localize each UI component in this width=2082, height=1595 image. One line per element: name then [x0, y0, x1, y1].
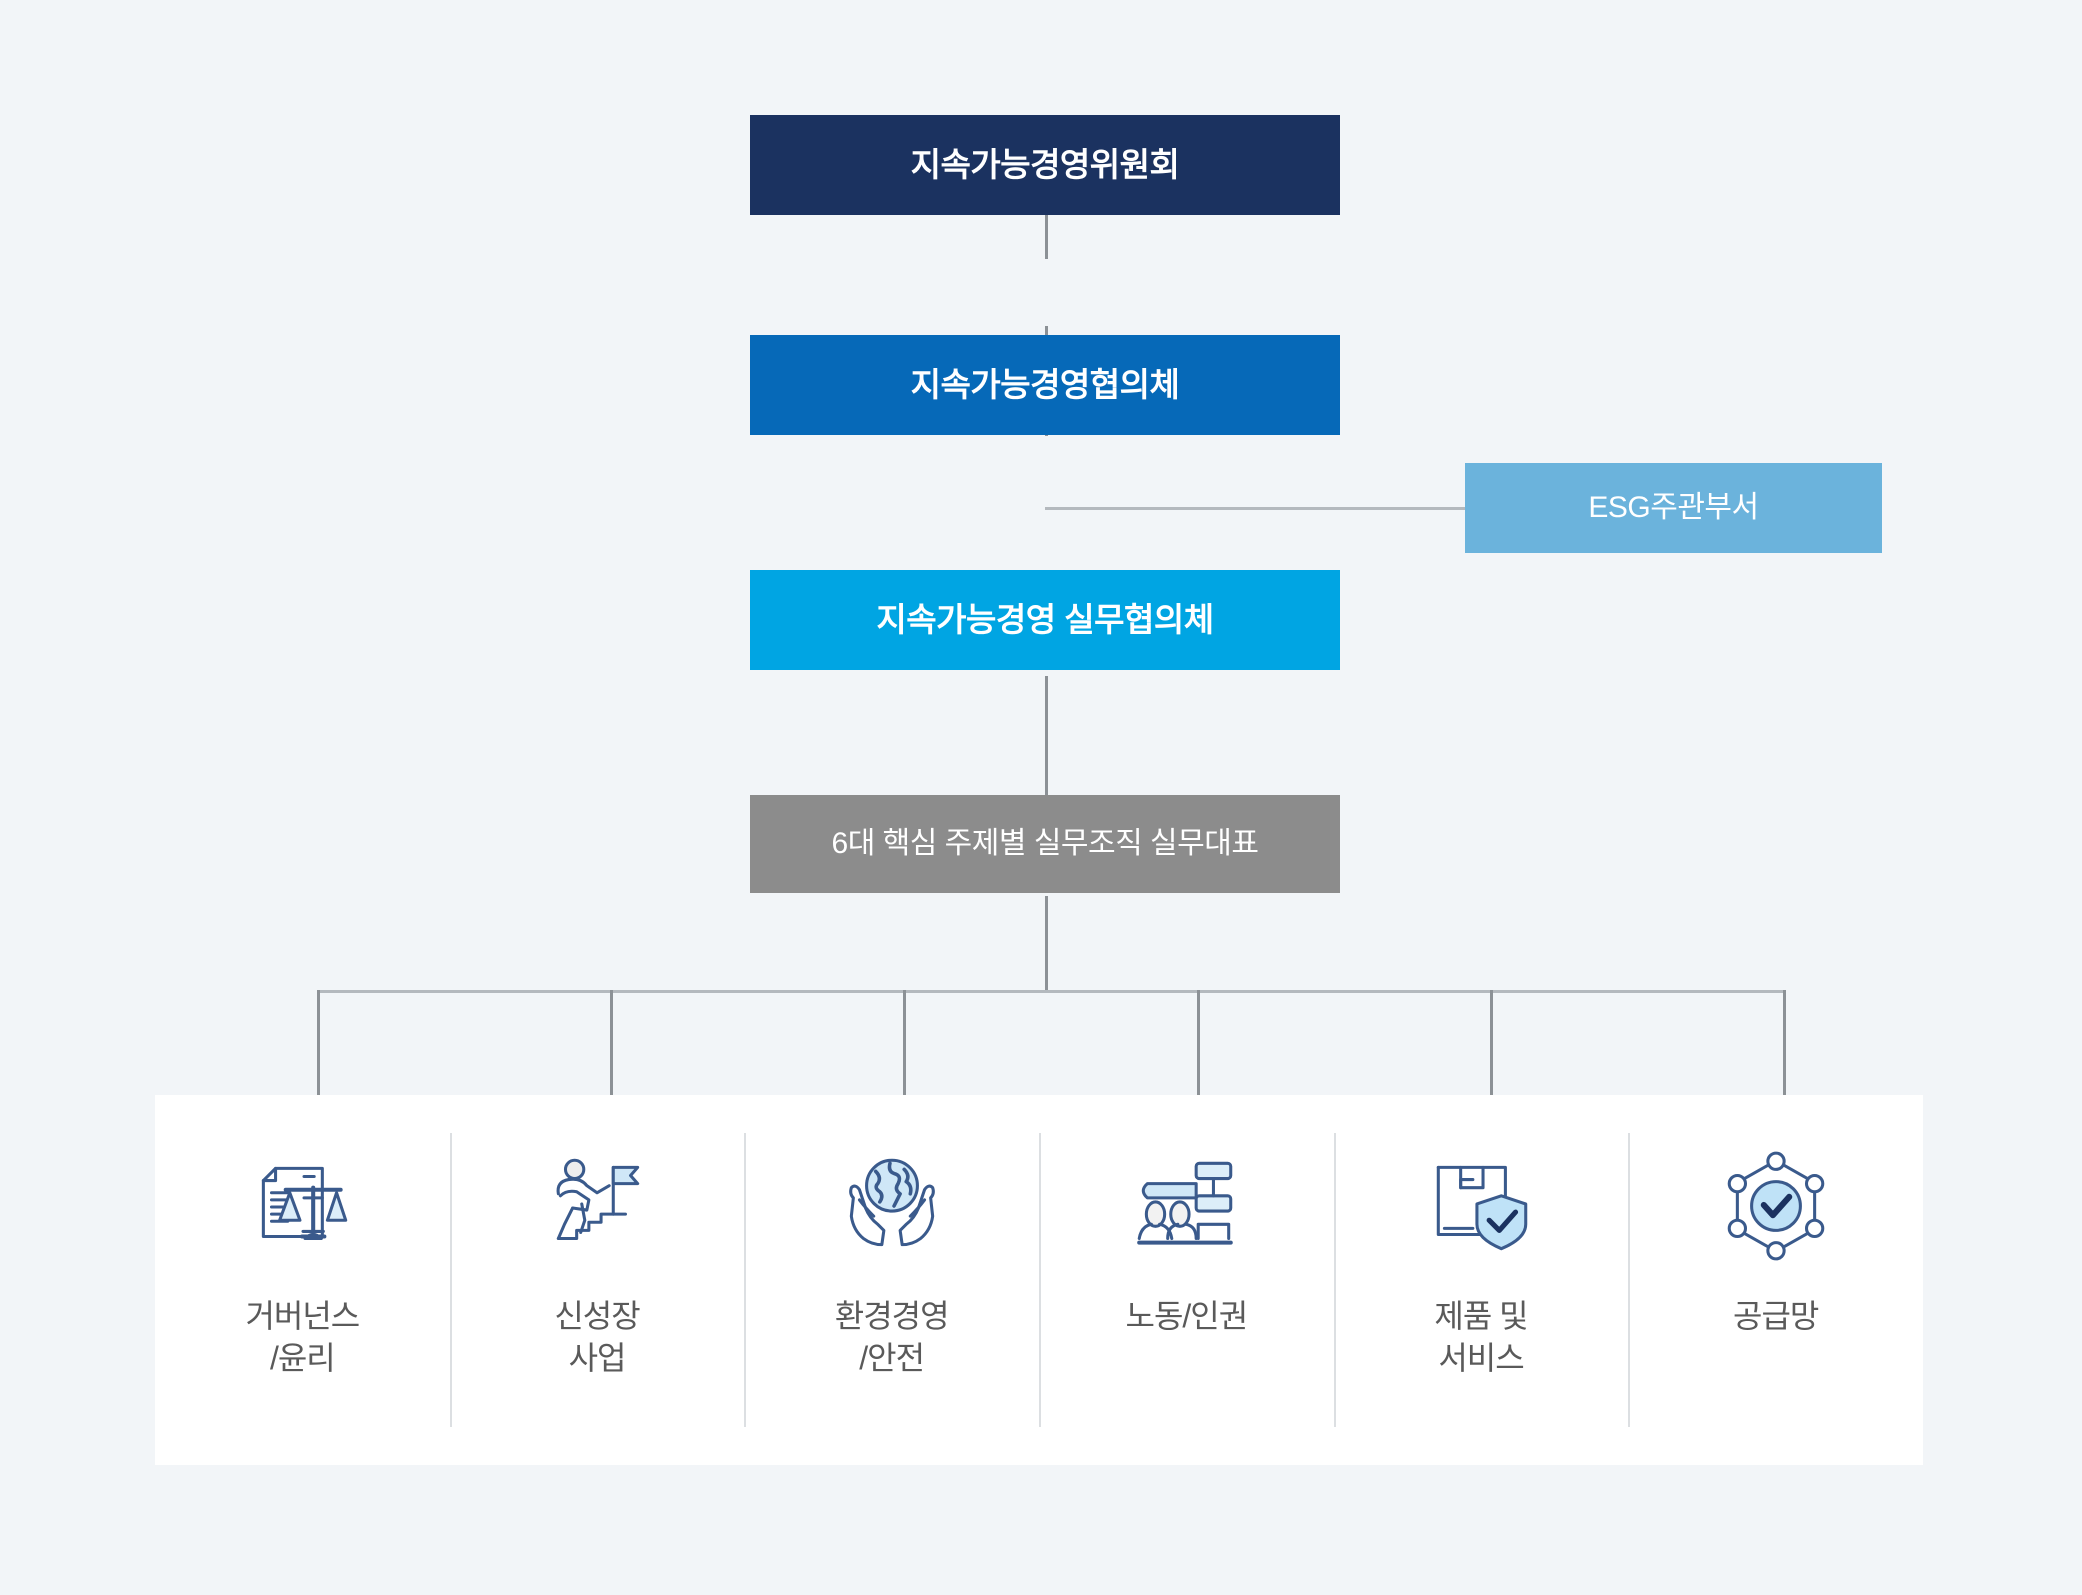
topic-drop-2: [610, 990, 613, 1096]
topic-label: 제품 및 서비스: [1434, 1295, 1527, 1379]
box-shield-check-icon: [1418, 1143, 1544, 1269]
topic-label: 신성장 사업: [554, 1295, 639, 1379]
topic-drop-5: [1490, 990, 1493, 1096]
node-sustainability-committee[interactable]: 지속가능경영위원회: [750, 115, 1340, 215]
connector-reps-to-topics: [1045, 896, 1048, 992]
document-scales-icon: [239, 1143, 365, 1269]
network-check-icon: [1713, 1143, 1839, 1269]
topic-drop-6: [1783, 990, 1786, 1096]
gavel-people-icon: [1123, 1143, 1249, 1269]
node-sustainability-council[interactable]: 지속가능경영협의체: [750, 335, 1340, 435]
topic-supply-chain[interactable]: 공급망: [1628, 1095, 1923, 1465]
node-working-representatives[interactable]: 6대 핵심 주제별 실무조직 실무대표: [750, 795, 1340, 893]
topic-governance-ethics[interactable]: 거버넌스 /윤리: [155, 1095, 450, 1465]
node-esg-department[interactable]: ESG주관부서: [1465, 463, 1882, 553]
connector-council-to-esg-department: [1045, 507, 1465, 510]
esg-governance-diagram: 지속가능경영위원회 지속가능경영협의체 ESG주관부서 지속가능경영 실무협의체…: [0, 0, 2082, 1595]
topic-drop-1: [317, 990, 320, 1096]
topic-labor-human-rights[interactable]: 노동/인권: [1039, 1095, 1334, 1465]
topic-label: 환경경영 /안전: [835, 1295, 949, 1379]
topic-drop-3: [903, 990, 906, 1096]
topic-label: 공급망: [1733, 1295, 1818, 1337]
person-stairs-flag-icon: [534, 1143, 660, 1269]
topics-card: 거버넌스 /윤리 신성장 사업: [155, 1095, 1923, 1465]
topic-label: 거버넌스 /윤리: [245, 1295, 359, 1379]
node-working-council[interactable]: 지속가능경영 실무협의체: [750, 570, 1340, 670]
topic-label: 노동/인권: [1126, 1295, 1248, 1337]
topic-environment-safety[interactable]: 환경경영 /안전: [744, 1095, 1039, 1465]
topic-drop-4: [1197, 990, 1200, 1096]
connector-working-council-to-reps: [1045, 676, 1048, 799]
topic-products-services[interactable]: 제품 및 서비스: [1334, 1095, 1629, 1465]
topics-branch-bar: [317, 990, 1784, 993]
hands-globe-icon: [829, 1143, 955, 1269]
topic-new-growth-business[interactable]: 신성장 사업: [450, 1095, 745, 1465]
